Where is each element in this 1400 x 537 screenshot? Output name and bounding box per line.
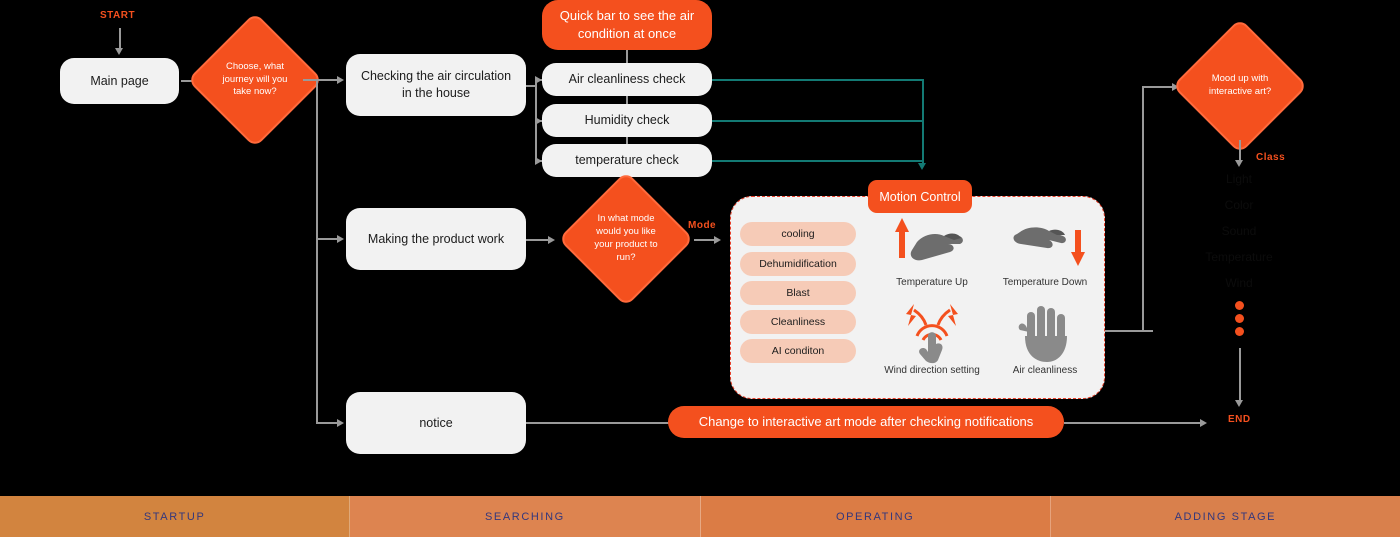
ellipsis-dot-2 (1235, 314, 1244, 323)
mode-chip-cleanliness[interactable]: Cleanliness (740, 310, 856, 334)
arrow-art-to-end (1235, 400, 1243, 407)
teal-line-humidity (712, 120, 924, 122)
stage-startup[interactable]: STARTUP (0, 496, 350, 537)
stage-searching[interactable]: SEARCHING (350, 496, 700, 537)
arrow-product-to-mode (548, 236, 555, 244)
hand-palm-down-arrow-icon (975, 212, 1115, 274)
decision-mode-question[interactable]: In what mode would you like your product… (578, 191, 674, 287)
node-checking-air-circulation[interactable]: Checking the air circulation in the hous… (346, 54, 526, 116)
arrow-branch-3 (337, 419, 344, 427)
connector-art-to-end (1239, 348, 1241, 403)
interactive-art-item-sound: Sound (1164, 224, 1314, 238)
decision-choose-journey-label: Choose, what journey will you take now? (207, 32, 303, 128)
interactive-art-item-temperature: Temperature (1164, 250, 1314, 264)
stage-operating[interactable]: OPERATING (701, 496, 1051, 537)
node-humidity-check[interactable]: Humidity check (542, 104, 712, 137)
connector-panel-to-mood-vertical (1142, 86, 1144, 331)
connector-start-to-main (119, 28, 121, 50)
gesture-temperature-down[interactable]: Temperature Down (975, 212, 1115, 288)
start-label: START (100, 10, 135, 21)
arrow-teal-into-motion (918, 163, 926, 170)
connector-panel-to-mood-horizontal (1142, 86, 1176, 88)
connector-check1-check2 (626, 96, 628, 104)
teal-line-vertical (922, 79, 924, 165)
decision-mood-question-label: Mood up with interactive art? (1192, 38, 1288, 134)
open-hand-icon (975, 300, 1115, 362)
arrow-start-to-main (115, 48, 123, 55)
node-making-product-work[interactable]: Making the product work (346, 208, 526, 270)
arrow-banner-to-end (1200, 419, 1207, 427)
end-label: END (1228, 414, 1251, 425)
arrow-check-2 (535, 117, 542, 125)
flowchart-canvas: START Main page Choose, what journey wil… (0, 0, 1400, 537)
mode-chip-cooling[interactable]: cooling (740, 222, 856, 246)
arrow-branch-1 (337, 76, 344, 84)
arrow-branch-2 (337, 235, 344, 243)
gesture-air-cleanliness[interactable]: Air cleanliness (975, 300, 1115, 376)
stage-adding[interactable]: ADDING STAGE (1051, 496, 1400, 537)
teal-line-temperature (712, 160, 924, 162)
node-quick-bar[interactable]: Quick bar to see the air condition at on… (542, 0, 712, 50)
art-tag-label: Class (1256, 152, 1285, 163)
connector-choose-out (303, 79, 317, 81)
decision-mood-question[interactable]: Mood up with interactive art? (1192, 38, 1288, 134)
mode-chip-dehumidification[interactable]: Dehumidification (740, 252, 856, 276)
node-air-cleanliness-check[interactable]: Air cleanliness check (542, 63, 712, 96)
decision-choose-journey[interactable]: Choose, what journey will you take now? (207, 32, 303, 128)
arrow-check-3 (535, 157, 542, 165)
interactive-art-item-color: Color (1164, 198, 1314, 212)
banner-change-to-interactive-art[interactable]: Change to interactive art mode after che… (668, 406, 1064, 438)
arrow-mood-down (1235, 160, 1243, 167)
decision-mode-question-label: In what mode would you like your product… (578, 191, 674, 287)
ellipsis-dot-1 (1235, 301, 1244, 310)
node-temperature-check[interactable]: temperature check (542, 144, 712, 177)
connector-panel-out (1105, 330, 1153, 332)
connector-mode-to-panel (694, 239, 716, 241)
mode-chip-blast[interactable]: Blast (740, 281, 856, 305)
motion-control-title: Motion Control (868, 180, 972, 213)
connector-mood-down (1239, 140, 1241, 162)
connector-branch-bus (316, 79, 318, 424)
node-notice[interactable]: notice (346, 392, 526, 454)
arrow-mode-to-panel (714, 236, 721, 244)
gesture-caption: Temperature Down (975, 277, 1115, 288)
mode-tag-label: Mode (688, 220, 716, 231)
interactive-art-item-wind: Wind (1164, 276, 1314, 290)
mode-chip-ai-conditon[interactable]: AI conditon (740, 339, 856, 363)
connector-product-to-mode (526, 239, 550, 241)
teal-line-cleanliness (712, 79, 924, 81)
interactive-art-item-light: Light (1164, 172, 1314, 186)
stage-bar: STARTUP SEARCHING OPERATING ADDING STAGE (0, 496, 1400, 537)
connector-notice-to-banner (526, 422, 672, 424)
node-main-page[interactable]: Main page (60, 58, 179, 104)
ellipsis-dot-3 (1235, 327, 1244, 336)
connector-banner-to-end (1064, 422, 1204, 424)
arrow-check-1 (535, 76, 542, 84)
connector-quickbar-to-check (626, 50, 628, 64)
